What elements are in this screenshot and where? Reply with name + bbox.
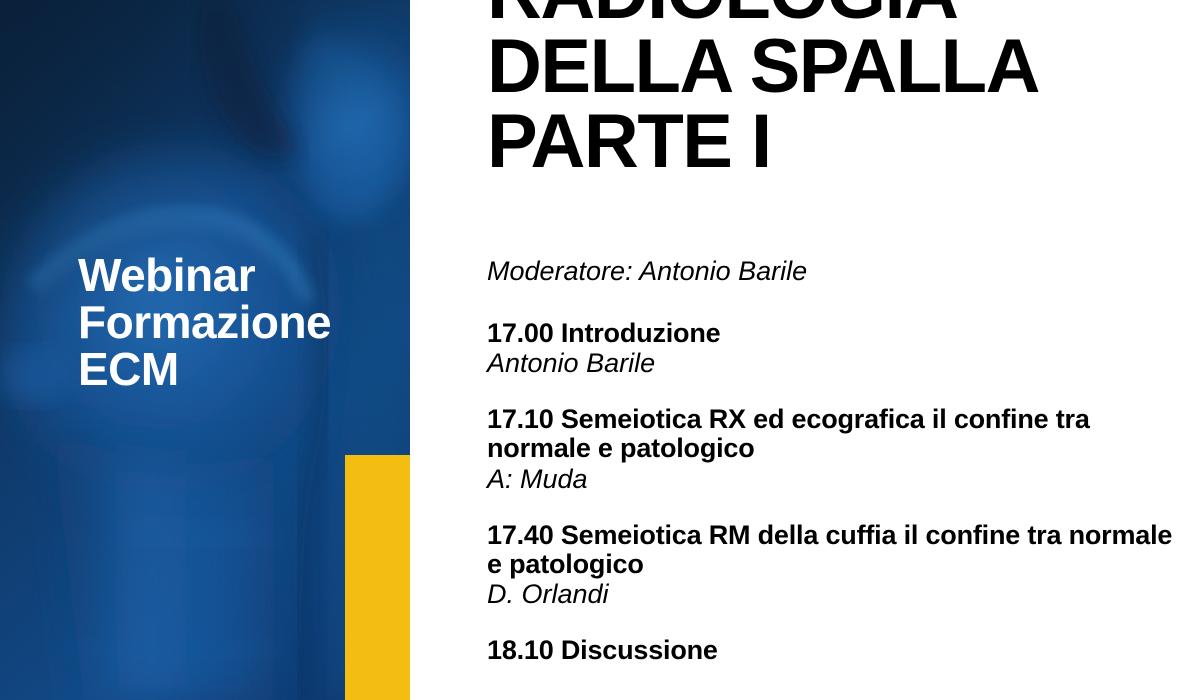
panel-title-line-3: ECM (78, 346, 398, 393)
session-title: 17.40 Semeiotica RM della cuffia il conf… (487, 521, 1177, 579)
panel-title-line-2: Formazione (78, 299, 398, 346)
session-item: 17.10 Semeiotica RX ed ecografica il con… (487, 405, 1177, 494)
session-speaker: Antonio Barile (487, 348, 1177, 379)
right-content-panel: RADIOLOGIA DELLA SPALLA PARTE I Moderato… (410, 0, 1200, 700)
program-list: Moderatore: Antonio Barile 17.00 Introdu… (487, 256, 1177, 665)
session-item: 17.00 Introduzione Antonio Barile (487, 319, 1177, 379)
webinar-panel-title: Webinar Formazione ECM (78, 252, 398, 393)
session-speaker: D. Orlandi (487, 579, 1177, 610)
moderator-line: Moderatore: Antonio Barile (487, 256, 1177, 287)
page-title: RADIOLOGIA DELLA SPALLA PARTE I (487, 0, 1187, 179)
date-time-strip: AIO 17:00 (345, 455, 410, 700)
session-item: 18.10 Discussione (487, 636, 1177, 665)
session-title: 17.10 Semeiotica RX ed ecografica il con… (487, 405, 1177, 463)
session-speaker: A: Muda (487, 464, 1177, 495)
session-title: 17.00 Introduzione (487, 319, 1177, 348)
session-title: 18.10 Discussione (487, 636, 1177, 665)
webinar-poster: Webinar Formazione ECM AIO 17:00 RADIOLO… (0, 0, 1200, 700)
session-item: 17.40 Semeiotica RM della cuffia il conf… (487, 521, 1177, 610)
page-title-line-2: DELLA SPALLA (487, 30, 1187, 104)
panel-title-line-1: Webinar (78, 252, 398, 299)
page-title-line-3: PARTE I (487, 105, 1187, 179)
